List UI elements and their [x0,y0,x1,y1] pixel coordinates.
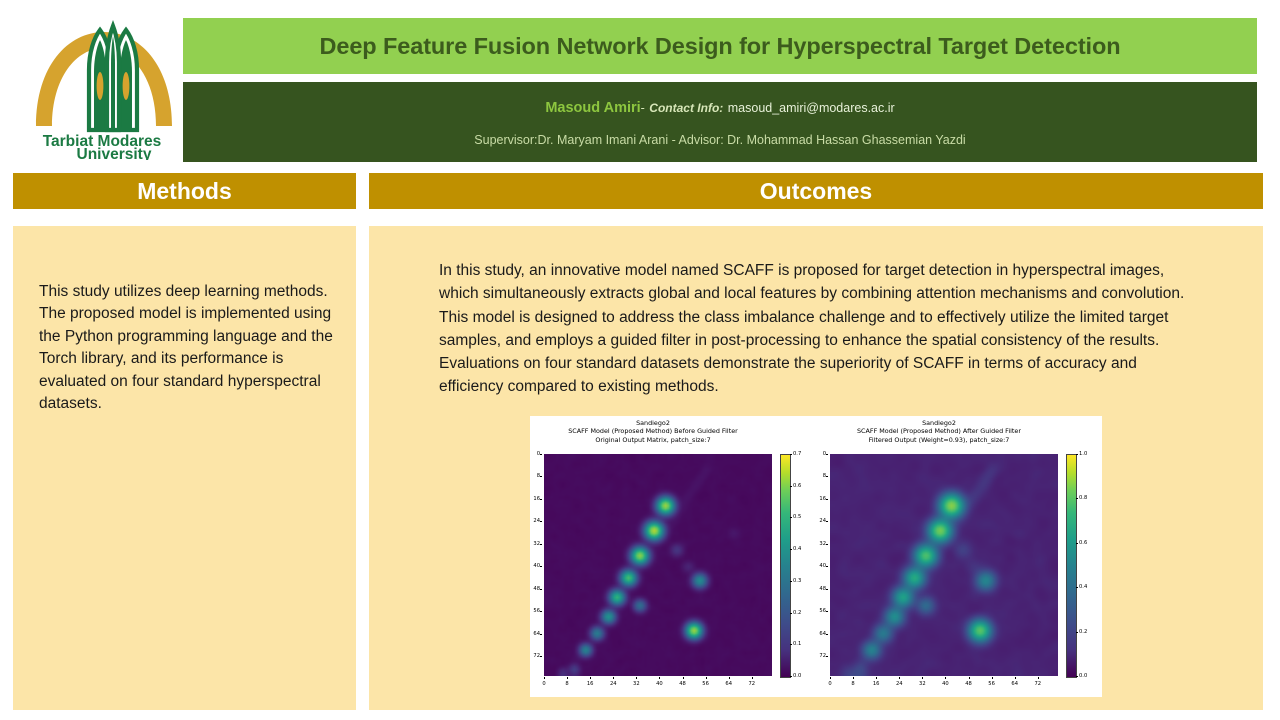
y-tick-mark [540,656,542,657]
outcomes-body-text: In this study, an innovative model named… [439,259,1194,399]
y-tick-mark [540,634,542,635]
y-tick-label: 32 [819,541,826,547]
x-tick-mark [853,677,854,679]
x-tick-label: 56 [702,681,709,687]
heatmap-x-axis-after: 081624324048566472 [830,677,1058,691]
colorbar-tick-label: 0.0 [793,673,801,679]
x-tick-mark [969,677,970,679]
colorbar-tick-label: 0.6 [793,483,801,489]
x-tick-label: 48 [965,681,972,687]
colorbar-tick-label: 0.2 [1079,629,1087,635]
colorbar-tick-label: 0.3 [793,578,801,584]
y-tick-label: 24 [533,518,540,524]
x-tick-mark [922,677,923,679]
y-tick-mark [540,589,542,590]
x-tick-mark [729,677,730,679]
y-tick-label: 56 [819,608,826,614]
colorbar-tick-label: 0.2 [793,610,801,616]
poster-title-bar: Deep Feature Fusion Network Design for H… [183,18,1257,74]
heatmap-subtitle-after: SCAFF Model (Proposed Method) After Guid… [816,427,1062,435]
y-tick-mark [826,499,828,500]
y-tick-mark [826,521,828,522]
colorbar-tick-label: 1.0 [1079,451,1087,457]
y-tick-mark [826,611,828,612]
x-tick-mark [706,677,707,679]
author-line: Masoud Amiri- Contact Info: masoud_amiri… [545,99,894,117]
x-tick-label: 24 [610,681,617,687]
x-tick-label: 64 [1011,681,1018,687]
colorbar-tick-mark [790,486,792,487]
y-tick-label: 64 [533,631,540,637]
logo-leaf-center [111,36,115,128]
y-tick-label: 16 [819,496,826,502]
logo-text-line2: University [77,146,152,160]
x-tick-label: 8 [851,681,854,687]
outcomes-section-title: Outcomes [760,178,872,205]
y-tick-mark [540,476,542,477]
x-tick-mark [613,677,614,679]
y-tick-mark [540,521,542,522]
supervisor-advisor-line: Supervisor:Dr. Maryam Imani Arani - Advi… [474,133,965,147]
university-logo-svg: Tarbiat Modares University [22,8,182,160]
x-tick-mark [544,677,545,679]
colorbar-tick-label: 0.4 [793,546,801,552]
y-tick-mark [540,566,542,567]
poster-header: Tarbiat Modares University Deep Feature … [0,0,1280,166]
x-tick-mark [590,677,591,679]
page-title: Deep Feature Fusion Network Design for H… [320,33,1121,60]
x-tick-label: 48 [679,681,686,687]
x-tick-label: 24 [896,681,903,687]
heatmap-y-axis-after: 081624324048566472 [816,454,828,676]
y-tick-mark [826,656,828,657]
contact-email[interactable]: masoud_amiri@modares.ac.ir [728,101,895,115]
y-tick-label: 48 [533,586,540,592]
y-tick-mark [540,454,542,455]
y-tick-label: 16 [533,496,540,502]
heatmap-subplot-after: Sandiego2 SCAFF Model (Proposed Method) … [816,416,1102,697]
x-tick-label: 64 [725,681,732,687]
colorbar-labels-before: 0.00.10.20.30.40.50.60.7 [790,454,814,676]
heatmap-dataset-name-before: Sandiego2 [530,419,776,427]
outcomes-section-header: Outcomes [369,173,1263,209]
x-tick-label: 72 [748,681,755,687]
university-logo: Tarbiat Modares University [22,8,182,160]
x-tick-mark [992,677,993,679]
y-tick-mark [826,454,828,455]
x-tick-label: 8 [565,681,568,687]
colorbar-tick-mark [1076,632,1078,633]
y-tick-label: 72 [819,653,826,659]
y-tick-mark [826,566,828,567]
author-name: Masoud Amiri [545,100,640,116]
colorbar-tick-label: 0.1 [793,641,801,647]
x-tick-label: 0 [542,681,545,687]
heatmap-title-before: Sandiego2 SCAFF Model (Proposed Method) … [530,419,776,444]
colorbar-tick-label: 0.4 [1079,584,1087,590]
x-tick-label: 16 [873,681,880,687]
x-tick-mark [752,677,753,679]
methods-panel: This study utilizes deep learning method… [13,226,356,710]
colorbar-tick-mark [790,549,792,550]
x-tick-mark [899,677,900,679]
author-contact-bar: Masoud Amiri- Contact Info: masoud_amiri… [183,82,1257,162]
x-tick-mark [876,677,877,679]
heatmap-subtitle-before: SCAFF Model (Proposed Method) Before Gui… [530,427,776,435]
x-tick-label: 40 [942,681,949,687]
x-tick-label: 0 [828,681,831,687]
y-tick-mark [540,611,542,612]
x-tick-mark [683,677,684,679]
y-tick-mark [826,544,828,545]
y-tick-label: 32 [533,541,540,547]
heatmap-subtitle2-before: Original Output Matrix, patch_size:7 [530,436,776,444]
heatmap-plot-area-before [544,454,772,676]
colorbar-labels-after: 0.00.20.40.60.81.0 [1076,454,1100,676]
y-tick-mark [540,499,542,500]
contact-info-label: Contact Info: [649,101,723,115]
y-tick-mark [826,634,828,635]
colorbar-tick-mark [790,613,792,614]
y-tick-label: 24 [819,518,826,524]
x-tick-mark [1015,677,1016,679]
heatmap-subtitle2-after: Filtered Output (Weight=0.93), patch_siz… [816,436,1062,444]
colorbar-tick-mark [790,454,792,455]
methods-body-text: This study utilizes deep learning method… [39,281,334,416]
x-tick-mark [636,677,637,679]
colorbar-tick-mark [1076,543,1078,544]
heatmap-canvas-before [544,454,772,676]
heatmap-dataset-name-after: Sandiego2 [816,419,1062,427]
figure-subplots: Sandiego2 SCAFF Model (Proposed Method) … [530,416,1102,697]
x-tick-mark [567,677,568,679]
logo-grain-right [123,72,130,100]
heatmap-plot-area-after [830,454,1058,676]
colorbar-tick-label: 0.8 [1079,495,1087,501]
x-tick-label: 16 [587,681,594,687]
colorbar-tick-mark [1076,498,1078,499]
x-tick-mark [1038,677,1039,679]
colorbar-tick-label: 0.7 [793,451,801,457]
y-tick-label: 40 [533,563,540,569]
x-tick-mark [659,677,660,679]
colorbar-tick-mark [790,644,792,645]
logo-base-bar [89,128,137,132]
colorbar-tick-mark [790,581,792,582]
y-tick-label: 72 [533,653,540,659]
colorbar-tick-label: 0.0 [1079,673,1087,679]
methods-section-header: Methods [13,173,356,209]
colorbar-tick-mark [1076,587,1078,588]
colorbar-tick-mark [1076,676,1078,677]
x-tick-label: 40 [656,681,663,687]
x-tick-label: 32 [633,681,640,687]
logo-grain-left [97,72,104,100]
y-tick-label: 48 [819,586,826,592]
outcomes-panel: In this study, an innovative model named… [369,226,1263,710]
y-tick-label: 56 [533,608,540,614]
x-tick-label: 56 [988,681,995,687]
heatmap-title-after: Sandiego2 SCAFF Model (Proposed Method) … [816,419,1062,444]
colorbar-tick-label: 0.6 [1079,540,1087,546]
x-tick-mark [830,677,831,679]
colorbar-tick-mark [1076,454,1078,455]
heatmap-x-axis-before: 081624324048566472 [544,677,772,691]
results-figure: Sandiego2 SCAFF Model (Proposed Method) … [530,416,1102,697]
y-tick-label: 40 [819,563,826,569]
x-tick-label: 32 [919,681,926,687]
y-tick-mark [540,544,542,545]
colorbar-tick-mark [790,517,792,518]
heatmap-subplot-before: Sandiego2 SCAFF Model (Proposed Method) … [530,416,816,697]
author-separator: - [641,101,645,115]
x-tick-mark [945,677,946,679]
colorbar-tick-label: 0.5 [793,514,801,520]
y-tick-mark [826,589,828,590]
y-tick-mark [826,476,828,477]
heatmap-y-axis-before: 081624324048566472 [530,454,542,676]
y-tick-label: 64 [819,631,826,637]
methods-section-title: Methods [137,178,232,205]
colorbar-tick-mark [790,676,792,677]
x-tick-label: 72 [1034,681,1041,687]
heatmap-canvas-after [830,454,1058,676]
